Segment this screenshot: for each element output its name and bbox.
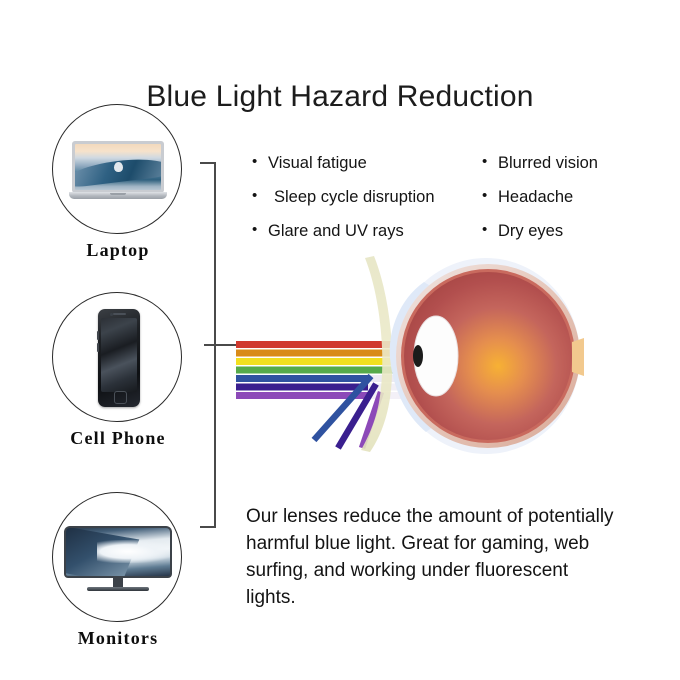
monitor-stand [87,587,149,591]
monitor-frame [64,526,172,578]
symptom-item: Glare and UV rays [252,214,482,248]
phone-speaker [113,313,126,315]
device-circle [52,292,182,422]
device-label: Laptop [52,240,184,261]
diagram-svg [228,252,600,460]
phone-camera-icon [110,313,113,316]
blue-light-filter-diagram [228,252,600,460]
laptop-notch [110,193,126,195]
symptoms-left-column: Visual fatigue Sleep cycle disruption Gl… [252,146,482,248]
symptom-item: Visual fatigue [252,146,482,180]
indigo-ray [236,384,368,391]
device-cell-phone: Cell Phone [52,292,184,449]
symptom-item: Blurred vision [482,146,642,180]
laptop-screen-wallpaper [75,144,161,190]
phone-volume-down-button [97,343,99,352]
eye-cross-section [390,258,584,454]
device-label: Cell Phone [52,428,184,449]
monitor-screen-wallpaper [66,528,170,576]
eye-optic-nerve [572,338,584,376]
footer-paragraph: Our lenses reduce the amount of potentia… [246,503,618,611]
laptop-icon [69,141,167,199]
device-laptop: Laptop [52,104,184,261]
laptop-lid [72,141,164,193]
smartphone-icon [98,309,140,407]
symptom-item: Headache [482,180,642,214]
bracket-top-arm [200,162,216,164]
bracket-bottom-arm [200,526,216,528]
monitor-icon [64,526,172,592]
device-monitors: Monitors [52,492,184,649]
device-circle [52,104,182,234]
apple-logo-icon [114,162,123,172]
infographic-canvas: Blue Light Hazard Reduction Visual fatig… [0,0,680,680]
blue-ray [236,375,368,382]
symptoms-right-column: Blurred vision Headache Dry eyes [482,146,642,248]
device-circle [52,492,182,622]
device-label: Monitors [52,628,184,649]
eye-pupil [413,345,423,367]
phone-screen [101,318,137,392]
phone-home-button [114,391,127,404]
symptom-item: Dry eyes [482,214,642,248]
phone-volume-up-button [97,331,99,340]
symptom-item: Sleep cycle disruption [252,180,482,214]
